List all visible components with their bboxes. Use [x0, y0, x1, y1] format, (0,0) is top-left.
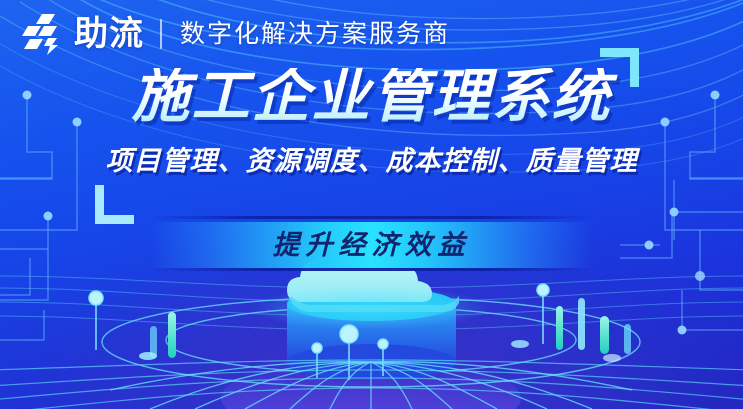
corner-bracket-bottom-left-icon: [95, 185, 134, 224]
brand-slogan: 数字化解决方案服务商: [180, 22, 450, 47]
brand-header: 助流 数字化解决方案服务商: [22, 6, 450, 62]
flow-lightning-logo-icon: [22, 12, 68, 56]
page-title: 施工企业管理系统: [0, 68, 743, 126]
tagline-text: 提升经济效益: [0, 226, 743, 264]
promotional-banner: 助流 数字化解决方案服务商 施工企业管理系统 项目管理、资源调度、成本控制、质量…: [0, 0, 743, 409]
page-subtitle: 项目管理、资源调度、成本控制、质量管理: [0, 148, 743, 175]
vertical-divider: [160, 19, 162, 49]
brand-name: 助流: [74, 17, 144, 51]
tagline-rule-top: [150, 216, 593, 219]
bar-chart-left: [150, 312, 176, 358]
tagline-rule-bottom: [150, 268, 593, 271]
cloud-platform-illustration: [0, 258, 743, 409]
